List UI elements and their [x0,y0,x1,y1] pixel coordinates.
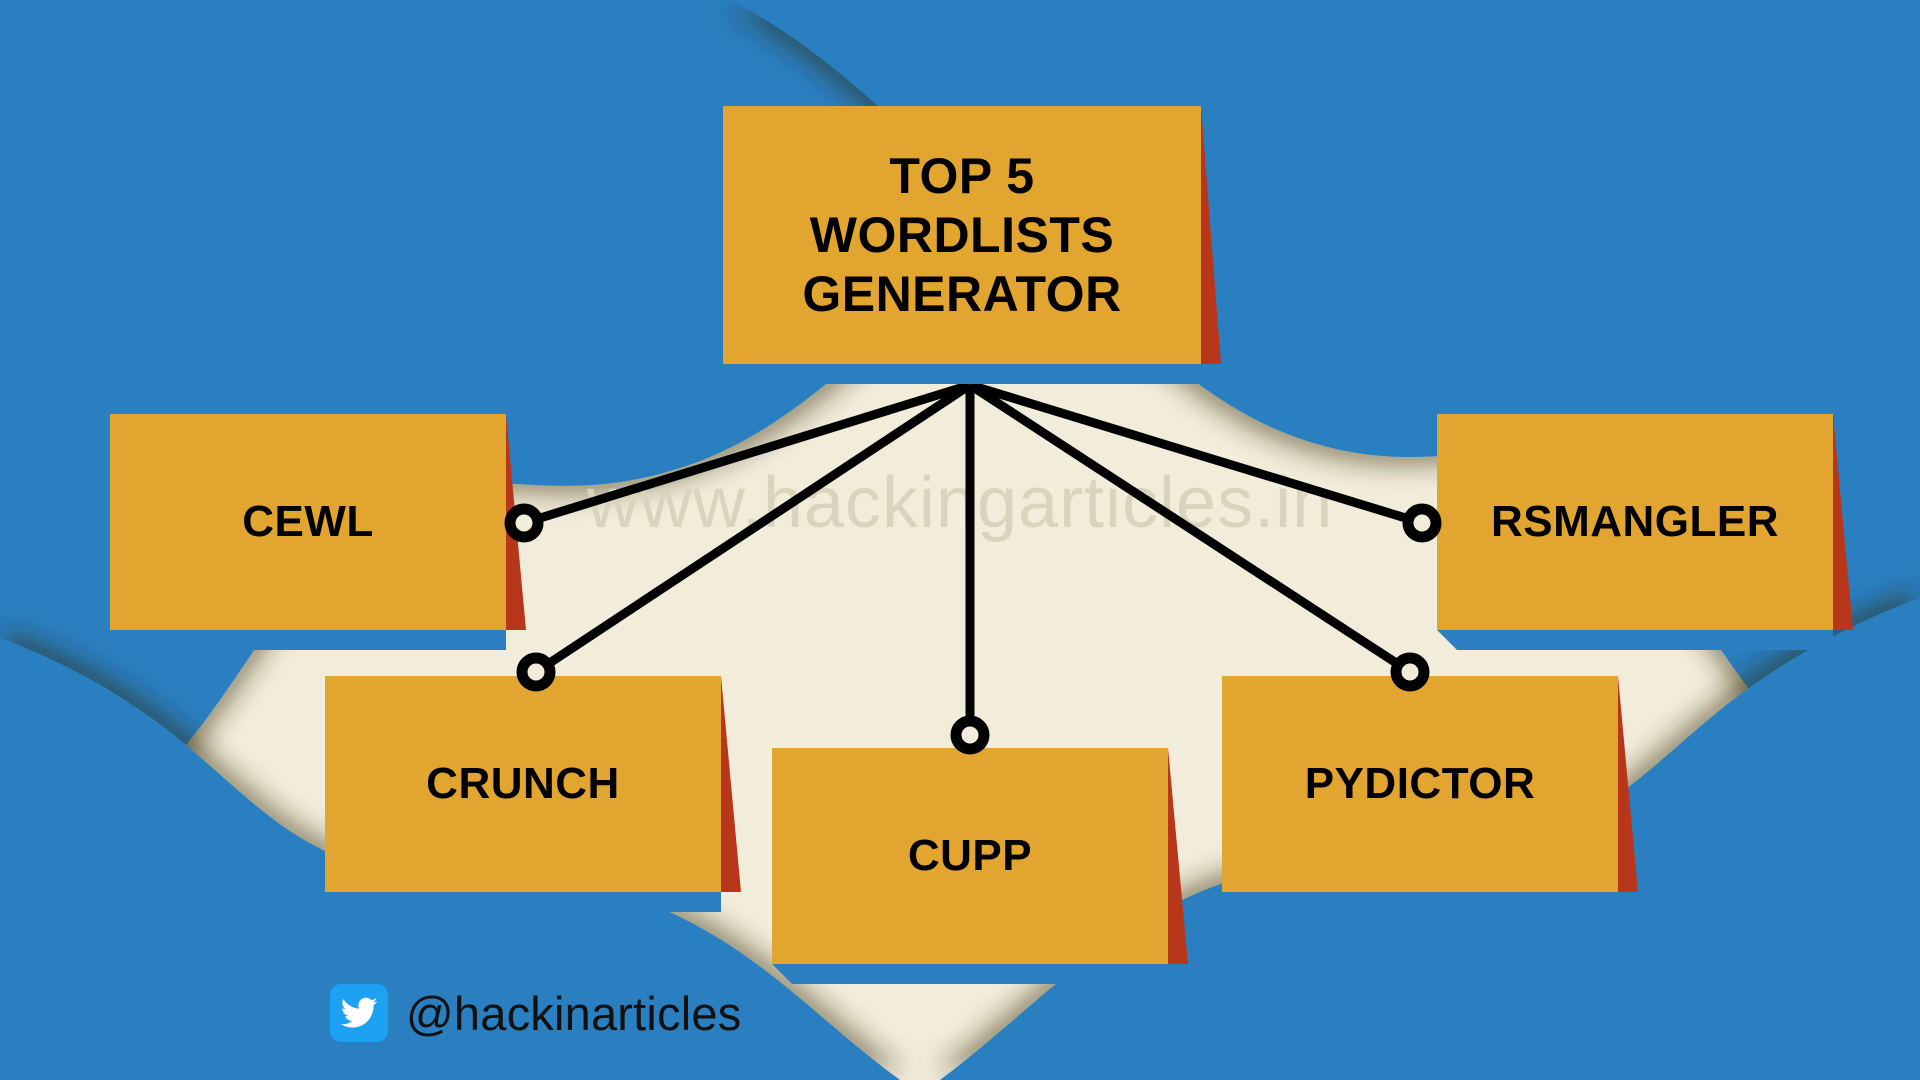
box-front-face: CUPP [772,748,1168,964]
node-box-title[interactable]: TOP 5 WORDLISTS GENERATOR [723,106,1201,364]
box-front-face: RSMANGLER [1437,414,1833,630]
box-front-face: CEWL [110,414,506,630]
connector-line-crunch [536,385,970,672]
box-side-bottom-face [772,964,1168,984]
title-box-label: TOP 5 WORDLISTS GENERATOR [792,147,1131,324]
box-side-bottom-face [110,630,506,650]
connector-line-cewl [524,385,970,523]
connector-line-pydictor [970,385,1410,672]
node-box-pydictor[interactable]: PYDICTOR [1222,676,1618,892]
node-box-rsmangler[interactable]: RSMANGLER [1437,414,1833,630]
twitter-bird-icon[interactable] [330,984,388,1042]
title-line-3: GENERATOR [802,266,1121,322]
footer-handle-text: @hackinarticles [406,986,741,1041]
box-label-cewl: CEWL [232,496,384,548]
box-front-face: CRUNCH [325,676,721,892]
infographic-canvas: www.hackingarticles.in TOP 5 WORDLISTS G… [0,0,1920,1080]
box-front-face: TOP 5 WORDLISTS GENERATOR [723,106,1201,364]
box-label-cupp: CUPP [898,830,1042,882]
box-side-bottom-face [723,364,1201,384]
box-front-face: PYDICTOR [1222,676,1618,892]
node-box-cewl[interactable]: CEWL [110,414,506,630]
title-line-2: WORDLISTS [810,207,1114,263]
footer-social-credit: @hackinarticles [330,984,741,1042]
title-line-1: TOP 5 [889,148,1034,204]
connector-line-rsmangler [970,385,1422,523]
box-side-bottom-face [325,892,721,912]
box-label-rsmangler: RSMANGLER [1481,496,1789,548]
node-box-crunch[interactable]: CRUNCH [325,676,721,892]
box-side-bottom-face [1437,630,1833,650]
box-side-bottom-face [1222,892,1618,912]
node-box-cupp[interactable]: CUPP [772,748,1168,964]
box-label-crunch: CRUNCH [416,758,630,810]
box-label-pydictor: PYDICTOR [1295,758,1546,810]
